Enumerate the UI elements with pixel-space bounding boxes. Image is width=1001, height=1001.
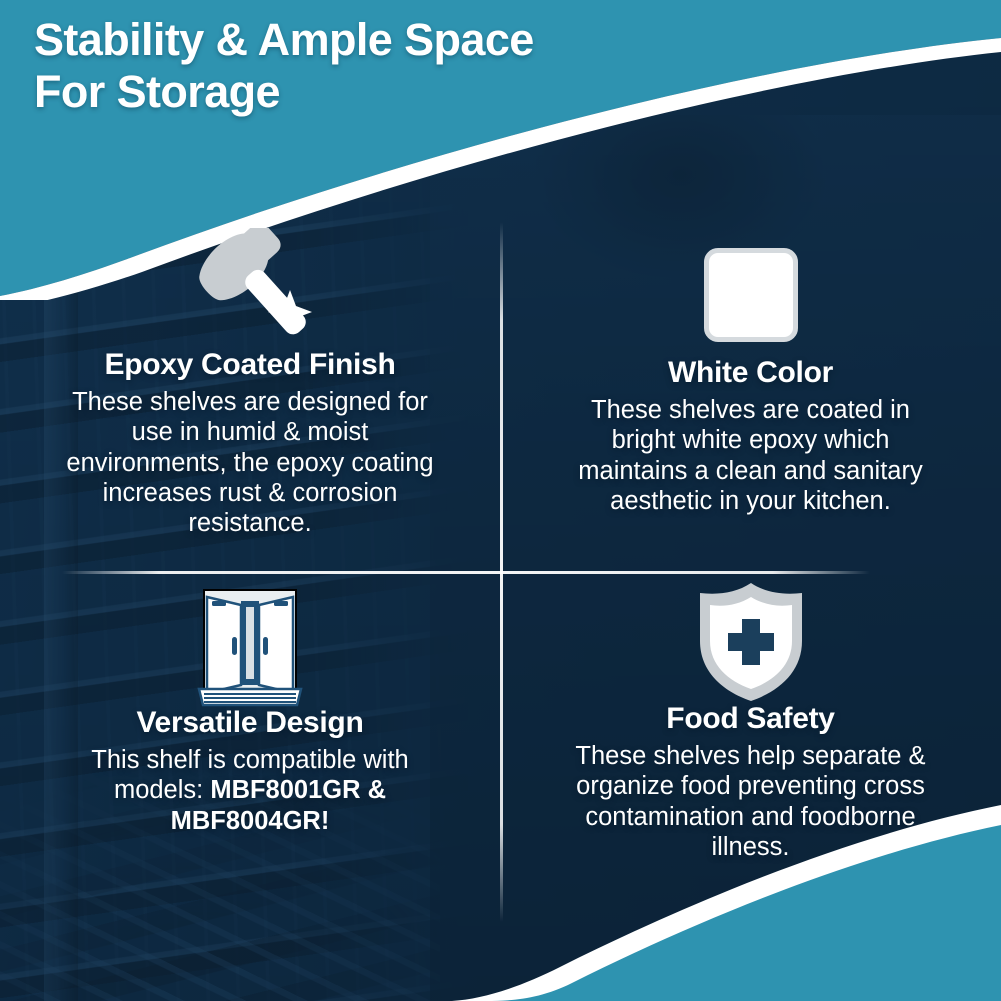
- infographic-canvas: Stability & Ample Space For Storage Epox…: [0, 0, 1001, 1001]
- feature-body: These shelves are coated in bright white…: [561, 395, 941, 516]
- feature-title: Epoxy Coated Finish: [104, 348, 395, 382]
- hammer-icon: [186, 228, 314, 346]
- feature-body: These shelves are designed for use in hu…: [60, 387, 440, 539]
- feature-grid: Epoxy Coated Finish These shelves are de…: [0, 222, 1001, 922]
- feature-card-food-safety: Food Safety These shelves help separate …: [500, 572, 1001, 922]
- page-title: Stability & Ample Space For Storage: [34, 14, 754, 118]
- feature-body: These shelves help separate & organize f…: [551, 741, 951, 862]
- feature-card-white-color: White Color These shelves are coated in …: [500, 222, 1001, 572]
- feature-title: White Color: [668, 356, 833, 390]
- feature-body: This shelf is compatible with models: MB…: [50, 745, 450, 836]
- refrigerator-icon: [195, 588, 305, 704]
- feature-card-versatile-design: Versatile Design This shelf is compatibl…: [0, 572, 500, 922]
- feature-title: Food Safety: [666, 702, 834, 736]
- shield-cross-icon: [692, 584, 810, 700]
- feature-title: Versatile Design: [137, 706, 364, 740]
- feature-card-epoxy-coated-finish: Epoxy Coated Finish These shelves are de…: [0, 222, 500, 572]
- white-swatch-icon: [704, 236, 798, 354]
